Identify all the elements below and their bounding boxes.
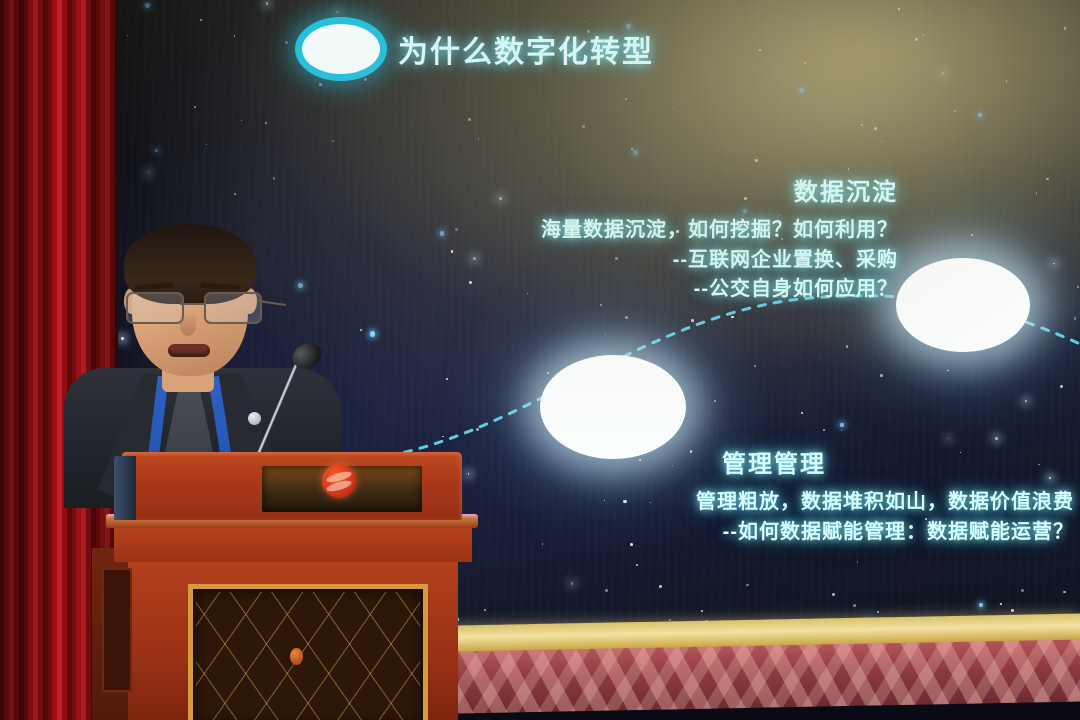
- star-speck: [455, 228, 458, 231]
- podium-front-lattice-panel: [188, 584, 428, 720]
- star-speck: [1053, 263, 1054, 264]
- star-speck: [659, 585, 662, 588]
- star-speck: [319, 83, 322, 86]
- presentation-photo-scene: 为什么数字化转型 数据沉淀 海量数据沉淀，如何挖掘？如何利用？ --互联网企业置…: [0, 0, 1080, 720]
- bullet-marker-icon: [302, 24, 380, 74]
- lens-right: [204, 292, 262, 324]
- star-speck: [1011, 609, 1013, 611]
- star-speck: [285, 41, 288, 44]
- star-speck: [1021, 589, 1024, 592]
- podium-emblem-icon: [322, 464, 356, 498]
- nose: [180, 314, 196, 336]
- podium-knob: [290, 648, 303, 665]
- star-speck: [701, 610, 703, 612]
- slide-block-management: 管理管理 管理粗放，数据堆积如山，数据价值浪费 --如何数据赋能管理：数据赋能运…: [696, 444, 1074, 547]
- block-line: --互联网企业置换、采购: [541, 246, 898, 276]
- podium-band: [114, 526, 472, 562]
- star-speck: [1000, 603, 1002, 605]
- podium-side-inlay: [102, 568, 132, 692]
- block-heading: 数据沉淀: [541, 172, 898, 207]
- star-speck: [194, 106, 196, 108]
- wooden-podium: [92, 452, 472, 720]
- slide-title: 为什么数字化转型: [398, 27, 654, 71]
- star-speck: [468, 118, 471, 121]
- star-speck: [1046, 178, 1048, 180]
- block-line: 海量数据沉淀，如何挖掘？如何利用？: [541, 216, 898, 246]
- star-speck: [848, 168, 849, 169]
- star-speck: [898, 8, 900, 10]
- star-speck: [633, 150, 638, 155]
- star-speck: [484, 609, 486, 611]
- mouth: [168, 344, 210, 357]
- star-speck: [127, 35, 128, 36]
- podium-left-edge: [114, 456, 136, 520]
- star-speck: [364, 78, 367, 81]
- star-speck: [625, 98, 627, 100]
- lens-left: [126, 292, 184, 324]
- ellipse-shape-right: [896, 258, 1030, 352]
- glasses-temple: [258, 300, 286, 306]
- star-speck: [853, 604, 856, 607]
- star-speck: [440, 231, 444, 235]
- star-speck: [971, 234, 973, 236]
- ellipse-shape-left: [540, 355, 686, 459]
- star-speck: [755, 159, 758, 162]
- podium-top: [122, 452, 462, 520]
- star-speck: [605, 589, 607, 591]
- star-speck: [1063, 591, 1066, 594]
- glasses-bridge: [180, 303, 206, 305]
- star-speck: [473, 257, 476, 260]
- block-line: 管理粗放，数据堆积如山，数据价值浪费: [696, 488, 1074, 518]
- slide-block-data-sedimentation: 数据沉淀 海量数据沉淀，如何挖掘？如何利用？ --互联网企业置换、采购 --公交…: [541, 172, 898, 305]
- block-line: --公交自身如何应用？: [541, 275, 898, 305]
- lapel-pin: [248, 412, 261, 425]
- star-speck: [979, 603, 983, 607]
- star-speck: [571, 582, 573, 584]
- star-speck: [1064, 27, 1067, 30]
- star-speck: [148, 172, 149, 173]
- star-speck: [499, 197, 502, 200]
- star-speck: [759, 49, 761, 51]
- star-speck: [478, 138, 479, 139]
- star-speck: [804, 62, 806, 64]
- block-line: --如何数据赋能管理：数据赋能运营？: [696, 518, 1074, 548]
- star-speck: [636, 564, 638, 566]
- star-speck: [451, 250, 453, 252]
- block-heading: 管理管理: [696, 444, 1074, 479]
